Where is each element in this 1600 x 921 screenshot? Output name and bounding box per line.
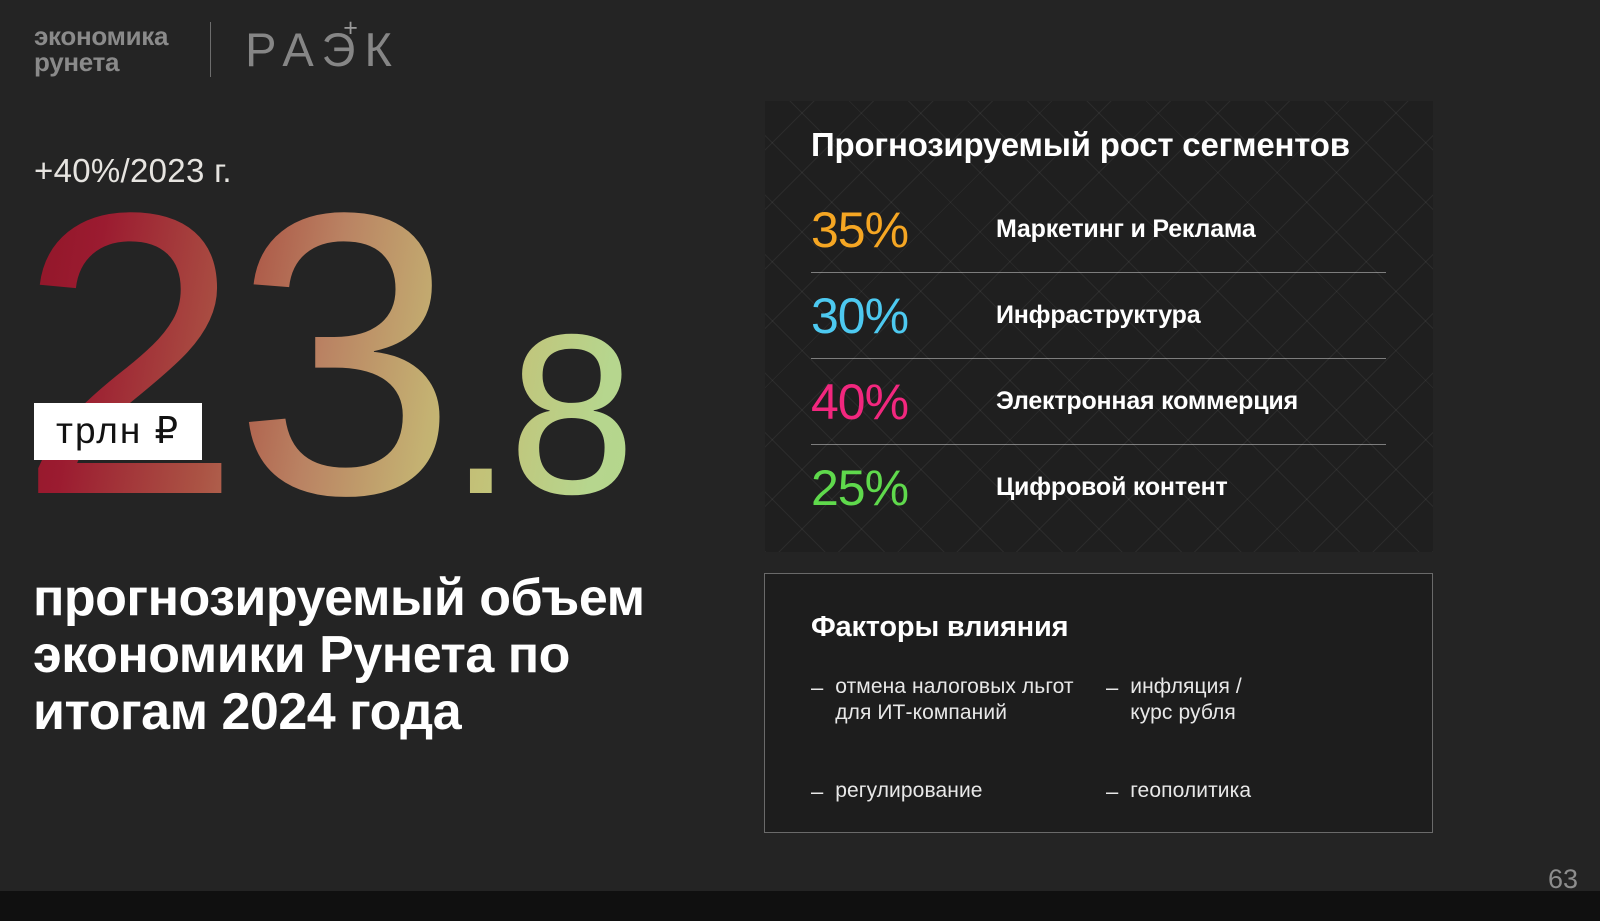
segment-row: 40% Электронная коммерция (811, 359, 1386, 444)
unit-badge: трлн ₽ (34, 403, 202, 460)
segments-list: 35% Маркетинг и Реклама 30% Инфраструкту… (811, 187, 1386, 530)
segments-title: Прогнозируемый рост сегментов (811, 126, 1350, 164)
segment-label: Цифровой контент (996, 473, 1228, 502)
factor-item: – регулирование (811, 778, 1096, 805)
dash-bullet-icon: – (1106, 674, 1118, 701)
dash-bullet-icon: – (811, 778, 823, 805)
factor-text: отмена налоговых льгот для ИТ-компаний (835, 674, 1073, 726)
factor-text: геополитика (1130, 778, 1251, 804)
hero-value-block: 23.8 (18, 178, 738, 538)
segment-label: Маркетинг и Реклама (996, 215, 1256, 244)
factor-item: – отмена налоговых льгот для ИТ-компаний (811, 674, 1096, 726)
segments-panel: Прогнозируемый рост сегментов 35% Маркет… (765, 101, 1433, 552)
factors-list: – отмена налоговых льгот для ИТ-компаний… (811, 674, 1391, 805)
factor-item: – геополитика (1106, 778, 1391, 805)
brand-logo: экономика рунета РАЭК + (34, 22, 401, 77)
bottom-strip (0, 891, 1600, 921)
logo-raek-text: РАЭК (245, 23, 401, 76)
segment-percent: 25% (811, 463, 996, 513)
slide: экономика рунета РАЭК + +40%/2023 г. 23.… (0, 0, 1600, 921)
segment-row: 35% Маркетинг и Реклама (811, 187, 1386, 272)
dash-bullet-icon: – (811, 674, 823, 701)
factors-panel: Факторы влияния – отмена налоговых льгот… (764, 573, 1433, 833)
factor-text: регулирование (835, 778, 982, 804)
segment-percent: 40% (811, 377, 996, 427)
segment-row: 30% Инфраструктура (811, 273, 1386, 358)
segment-percent: 35% (811, 205, 996, 255)
segment-percent: 30% (811, 291, 996, 341)
logo-line-2: рунета (34, 50, 168, 76)
hero-value-fraction: .8 (449, 288, 631, 542)
hero-value: 23.8 (18, 178, 738, 532)
logo-plus-superscript: + (343, 16, 358, 41)
segment-label: Электронная коммерция (996, 387, 1298, 416)
hero-value-integer: 23 (18, 130, 449, 579)
page-title: прогнозируемый объем экономики Рунета по… (33, 570, 673, 742)
segment-row: 25% Цифровой контент (811, 445, 1386, 530)
dash-bullet-icon: – (1106, 778, 1118, 805)
logo-economy-runet: экономика рунета (34, 24, 168, 75)
factor-item: – инфляция / курс рубля (1106, 674, 1391, 726)
logo-raek: РАЭК + (245, 26, 401, 73)
factors-title: Факторы влияния (811, 611, 1068, 644)
segment-label: Инфраструктура (996, 301, 1200, 330)
logo-divider (210, 22, 211, 77)
factor-text: инфляция / курс рубля (1130, 674, 1242, 726)
